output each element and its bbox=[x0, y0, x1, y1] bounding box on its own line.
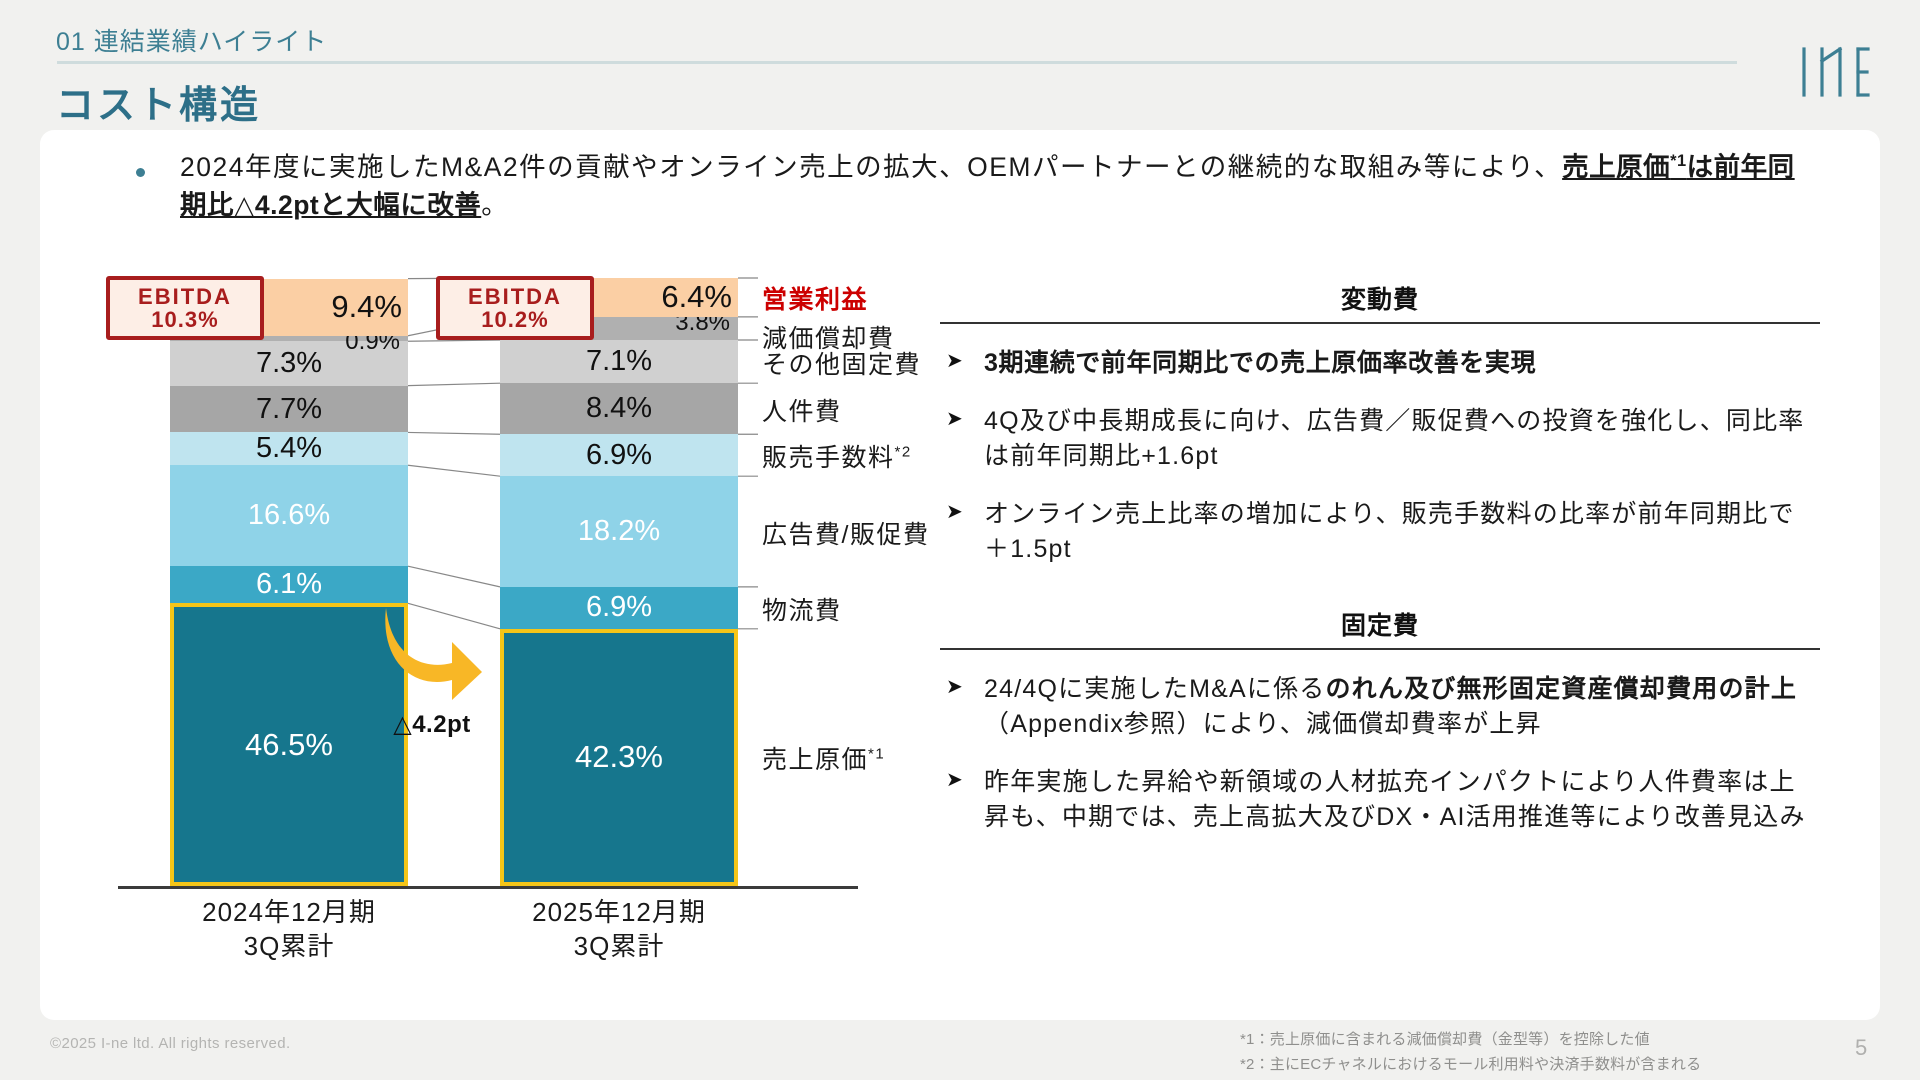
content-card: 2024年度に実施したM&A2件の貢献やオンライン売上の拡大、OEMパートナーと… bbox=[40, 130, 1880, 1020]
bar-segment-広告費販促費: 18.2% bbox=[500, 476, 738, 587]
x-label-line1: 2024年12月期 bbox=[139, 896, 439, 930]
segment-value-label: 6.1% bbox=[256, 568, 322, 601]
bar-segment-物流費: 6.1% bbox=[170, 566, 408, 603]
ebitda-callout-2025: EBITDA 10.2% bbox=[436, 276, 594, 340]
segment-value-label: 18.2% bbox=[578, 515, 660, 548]
bar-segment-売上原価1: 46.5% bbox=[170, 603, 408, 886]
bar-segment-販売手数料2: 5.4% bbox=[170, 432, 408, 465]
legend-footnote-marker: *1 bbox=[868, 746, 885, 763]
chevron-right-icon: ➤ bbox=[946, 677, 964, 697]
cost-structure-chart: 46.5%6.1%16.6%5.4%7.7%7.3%0.9%9.4% 42.3%… bbox=[90, 270, 910, 990]
legend-item-その他固定費: その他固定費 bbox=[762, 345, 921, 381]
lead-suffix: 。 bbox=[481, 190, 509, 220]
commentary-text: のれん及び無形固定資産償却費用の計上 bbox=[1325, 675, 1797, 703]
section-eyebrow: 01 連結業績ハイライト bbox=[56, 22, 327, 58]
segment-value-label: 6.9% bbox=[586, 591, 652, 624]
segment-value-label: 9.4% bbox=[331, 289, 402, 325]
legend-label: 広告費/販促費 bbox=[762, 521, 929, 549]
legend-label: 物流費 bbox=[762, 597, 842, 625]
commentary-text: 4Q及び中長期成長に向け、広告費／販促費への投資を強化し、同比率は前年同期比+1… bbox=[984, 407, 1805, 471]
segment-value-label: 7.7% bbox=[256, 393, 322, 426]
legend-label: 営業利益 bbox=[762, 286, 868, 314]
legend-label: その他固定費 bbox=[762, 351, 921, 379]
commentary-text: 3期連続で前年同期比での売上原価率改善を実現 bbox=[984, 349, 1536, 377]
commentary-point: ➤3期連続で前年同期比での売上原価率改善を実現 bbox=[940, 346, 1820, 382]
fixed-cost-heading: 固定費 bbox=[940, 606, 1820, 650]
footnote-2: *2：主にECチャネルにおけるモール利用料や決済手数料が含まれる bbox=[1240, 1053, 1701, 1078]
legend-footnote-marker: *2 bbox=[895, 444, 912, 461]
lead-text: 2024年度に実施したM&A2件の貢献やオンライン売上の拡大、OEMパートナーと… bbox=[180, 148, 1802, 225]
legend-item-売上原価: 売上原価*1 bbox=[762, 740, 885, 776]
legend-item-販売手数料: 販売手数料*2 bbox=[762, 438, 912, 474]
header-divider bbox=[57, 61, 1737, 64]
segment-value-label: 46.5% bbox=[245, 727, 333, 763]
chevron-right-icon: ➤ bbox=[946, 409, 964, 429]
bar-segment-物流費: 6.9% bbox=[500, 587, 738, 629]
lead-prefix: 2024年度に実施したM&A2件の貢献やオンライン売上の拡大、OEMパートナーと… bbox=[180, 152, 1562, 182]
commentary-text: （Appendix参照）により、減価償却費率が上昇 bbox=[984, 710, 1542, 738]
lead-emphasis-a: 売上原価 bbox=[1562, 152, 1670, 182]
bullet-dot-icon bbox=[136, 168, 145, 177]
ebitda-callout-2024: EBITDA 10.3% bbox=[106, 276, 264, 340]
lead-bullet: 2024年度に実施したM&A2件の貢献やオンライン売上の拡大、OEMパートナーと… bbox=[102, 148, 1802, 225]
commentary-point: ➤24/4Qに実施したM&Aに係るのれん及び無形固定資産償却費用の計上（Appe… bbox=[940, 672, 1820, 743]
footnotes: *1：売上原価に含まれる減価償却費（金型等）を控除した値 *2：主にECチャネル… bbox=[1240, 1028, 1701, 1078]
x-label-line2: 3Q累計 bbox=[469, 930, 769, 964]
copyright-text: ©2025 I-ne ltd. All rights reserved. bbox=[50, 1035, 291, 1052]
bar-segment-人件費: 8.4% bbox=[500, 383, 738, 434]
lead-emphasis-sup: *1 bbox=[1670, 152, 1687, 170]
legend-item-物流費: 物流費 bbox=[762, 591, 842, 627]
segment-value-label: 7.1% bbox=[586, 345, 652, 378]
commentary-text: 昨年実施した昇給や新領域の人材拡充インパクトにより人件費率は上昇も、中期では、売… bbox=[984, 768, 1806, 832]
bar-segment-その他固定費: 7.1% bbox=[500, 340, 738, 383]
legend-label: 販売手数料 bbox=[762, 444, 895, 472]
cogs-delta-label: △4.2pt bbox=[372, 710, 492, 739]
bar-segment-売上原価1: 42.3% bbox=[500, 629, 738, 886]
commentary-point: ➤オンライン売上比率の増加により、販売手数料の比率が前年同期比で＋1.5pt bbox=[940, 497, 1820, 568]
legend-item-営業利益: 営業利益 bbox=[762, 280, 868, 316]
segment-value-label: 8.4% bbox=[586, 392, 652, 425]
commentary-point: ➤昨年実施した昇給や新領域の人材拡充インパクトにより人件費率は上昇も、中期では、… bbox=[940, 765, 1820, 836]
segment-value-label: 5.4% bbox=[256, 432, 322, 465]
segment-value-label: 6.4% bbox=[661, 279, 732, 315]
legend-item-人件費: 人件費 bbox=[762, 392, 842, 428]
commentary-point: ➤4Q及び中長期成長に向け、広告費／販促費への投資を強化し、同比率は前年同期比+… bbox=[940, 404, 1820, 475]
chevron-right-icon: ➤ bbox=[946, 351, 963, 371]
slide-header: 01 連結業績ハイライト コスト構造 bbox=[0, 0, 1920, 140]
legend-label: 売上原価 bbox=[762, 746, 868, 774]
x-axis-label-2025: 2025年12月期 3Q累計 bbox=[469, 896, 769, 964]
legend-item-広告費-販促費: 広告費/販促費 bbox=[762, 515, 929, 551]
variable-cost-heading: 変動費 bbox=[940, 280, 1820, 324]
ebitda-value: 10.3% bbox=[151, 308, 218, 331]
ebitda-label: EBITDA bbox=[138, 285, 232, 308]
bar-segment-人件費: 7.7% bbox=[170, 386, 408, 433]
footnote-1: *1：売上原価に含まれる減価償却費（金型等）を控除した値 bbox=[1240, 1028, 1701, 1053]
fixed-cost-points: ➤24/4Qに実施したM&Aに係るのれん及び無形固定資産償却費用の計上（Appe… bbox=[940, 672, 1820, 836]
commentary-text: オンライン売上比率の増加により、販売手数料の比率が前年同期比で＋1.5pt bbox=[984, 500, 1795, 564]
ebitda-value: 10.2% bbox=[481, 308, 548, 331]
bar-segment-販売手数料2: 6.9% bbox=[500, 434, 738, 476]
bar-segment-広告費販促費: 16.6% bbox=[170, 465, 408, 566]
commentary-panel: 変動費 ➤3期連続で前年同期比での売上原価率改善を実現➤4Q及び中長期成長に向け… bbox=[940, 280, 1820, 836]
page-number: 5 bbox=[1855, 1035, 1867, 1061]
segment-value-label: 6.9% bbox=[586, 439, 652, 472]
legend-label: 人件費 bbox=[762, 398, 842, 426]
segment-value-label: 7.3% bbox=[256, 347, 322, 380]
x-label-line2: 3Q累計 bbox=[139, 930, 439, 964]
i-ne-logo-icon bbox=[1798, 45, 1870, 99]
chevron-right-icon: ➤ bbox=[946, 770, 964, 790]
x-label-line1: 2025年12月期 bbox=[469, 896, 769, 930]
segment-value-label: 16.6% bbox=[248, 499, 330, 532]
variable-cost-points: ➤3期連続で前年同期比での売上原価率改善を実現➤4Q及び中長期成長に向け、広告費… bbox=[940, 346, 1820, 568]
chart-x-axis bbox=[118, 886, 858, 889]
ebitda-label: EBITDA bbox=[468, 285, 562, 308]
x-axis-label-2024: 2024年12月期 3Q累計 bbox=[139, 896, 439, 964]
improvement-arrow-icon bbox=[378, 600, 488, 710]
segment-value-label: 42.3% bbox=[575, 739, 663, 775]
commentary-text: 24/4Qに実施したM&Aに係る bbox=[984, 675, 1325, 703]
page-title: コスト構造 bbox=[56, 74, 261, 129]
chevron-right-icon: ➤ bbox=[946, 502, 964, 522]
